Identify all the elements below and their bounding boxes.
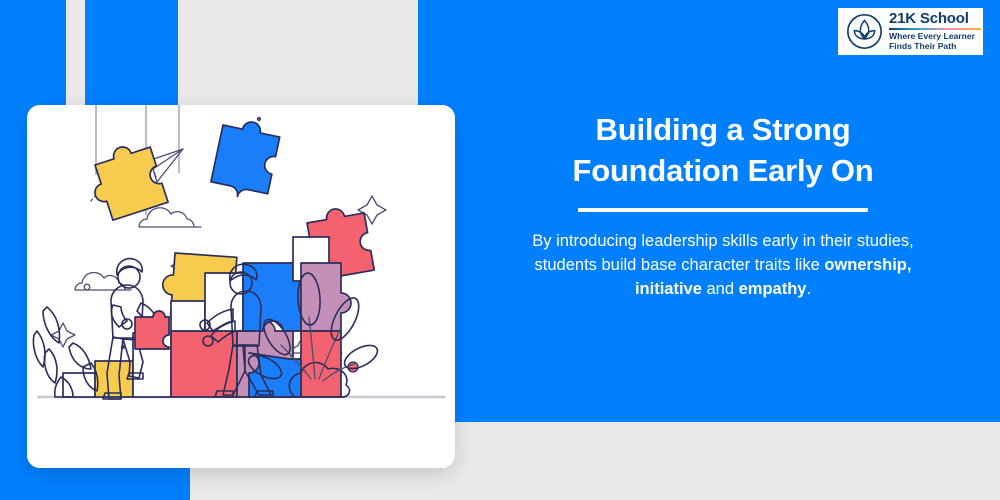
body-segment-4: . (806, 280, 811, 298)
illustration-graphic: .ln { fill:none; stroke:#2B2E5B; stroke-… (27, 105, 455, 468)
step-block-white (205, 273, 243, 331)
dot (257, 117, 261, 121)
logo-gradient-rule (889, 28, 981, 31)
title-divider (578, 208, 868, 212)
body-bold-initiative: initiative (635, 280, 702, 298)
step-block-coral (171, 331, 237, 397)
body-segment-3: and (702, 280, 739, 298)
lotus-circle-icon (846, 13, 883, 50)
illustration-card: .ln { fill:none; stroke:#2B2E5B; stroke-… (27, 105, 455, 468)
body-paragraph: By introducing leadership skills early i… (500, 229, 946, 302)
headline-line-1: Building a Strong (596, 112, 851, 147)
page-title: Building a Strong Foundation Early On (500, 110, 946, 192)
brand-logo[interactable]: 21K School Where Every Learner Finds The… (838, 8, 983, 55)
headline-line-2: Foundation Early On (572, 153, 873, 188)
step-block-white (63, 373, 95, 397)
logo-tagline-line-2: Finds Their Path (889, 42, 981, 52)
promo-banner: .ln { fill:none; stroke:#2B2E5B; stroke-… (0, 0, 1000, 500)
logo-name: 21K School (889, 11, 981, 26)
logo-text-block: 21K School Where Every Learner Finds The… (889, 11, 981, 52)
message-column: Building a Strong Foundation Early On By… (500, 110, 946, 302)
body-bold-ownership: ownership, (824, 256, 911, 274)
body-bold-empathy: empathy (739, 280, 807, 298)
